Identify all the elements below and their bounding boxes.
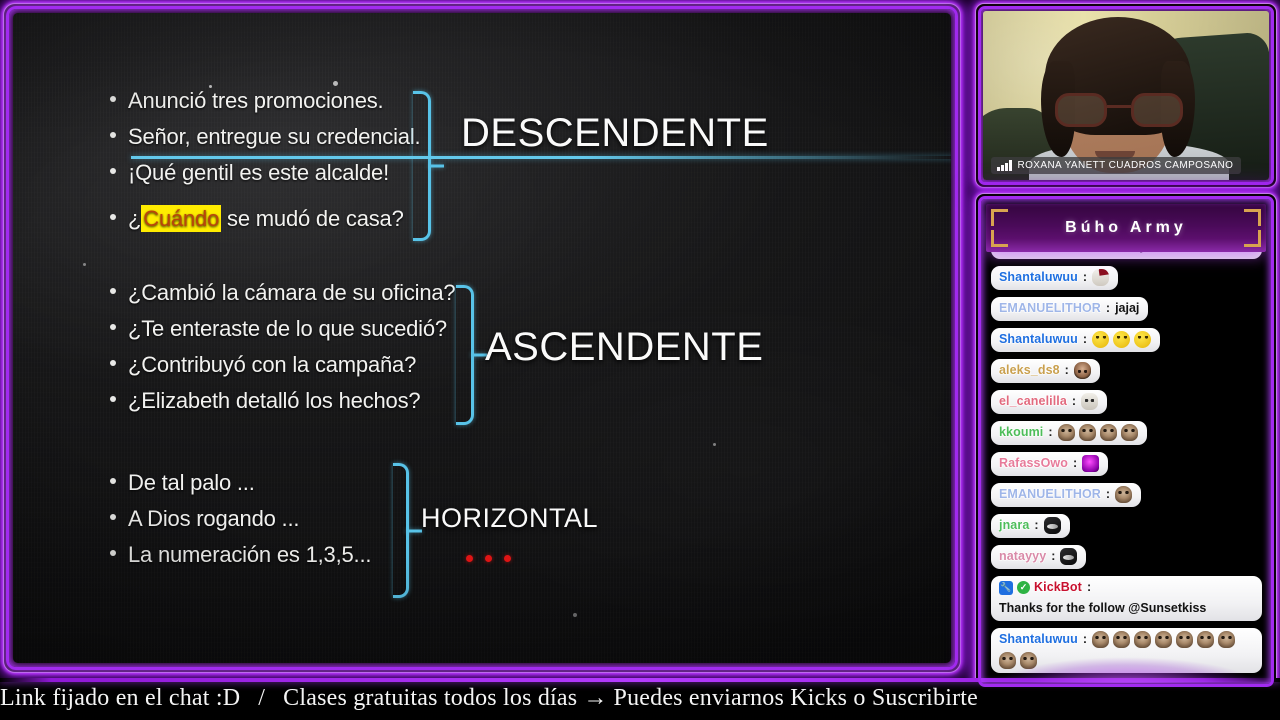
slide-group-horizontal: De tal palo ... A Dios rogando ... La nu…	[91, 465, 371, 573]
chat-message[interactable]: Shantaluwuu:	[991, 328, 1160, 352]
chat-emote-hamster-icon	[1155, 631, 1172, 648]
red-dot-icon	[485, 555, 492, 562]
chat-colon: :	[1072, 393, 1076, 410]
chat-username[interactable]: EMANUELITHOR	[999, 486, 1101, 503]
slide-group-descendente: Anunció tres promociones. Señor, entregu…	[91, 83, 420, 237]
slide-bullet: ¿Contribuyó con la campaña?	[91, 347, 455, 383]
bracket-nub	[406, 529, 422, 532]
webcam-name-text: ROXANA YANETT CUADROS CAMPOSANO	[1018, 160, 1234, 171]
bullet-text: ¿Cuándo se mudó de casa?	[128, 201, 404, 237]
bullet-text-pre: ¿	[128, 206, 141, 231]
chat-message[interactable]: jnara:	[991, 514, 1070, 538]
chat-emote-cat-icon	[1081, 393, 1098, 410]
bracket-ascendente	[456, 285, 474, 425]
bullet-text: Señor, entregue su credencial.	[128, 119, 420, 155]
heading-descendente: DESCENDENTE	[461, 111, 769, 156]
bullet-dot-icon	[110, 132, 116, 138]
chat-emote-hamster-icon	[999, 652, 1016, 669]
ticker-text: Link fijado en el chat :D/Clases gratuit…	[0, 685, 978, 712]
chat-message[interactable]: natayyy:	[991, 545, 1086, 569]
chat-emote-purple-icon	[1082, 455, 1099, 472]
chat-emote-smiley-icon	[1113, 331, 1130, 348]
slide-bullet: ¿Cambió la cámara de su oficina?	[91, 275, 455, 311]
chat-username[interactable]: el_canelilla	[999, 393, 1067, 410]
chat-colon: :	[1083, 631, 1087, 648]
chat-emote-smiley-icon	[1134, 331, 1151, 348]
chat-message[interactable]: RafassOwo:	[991, 452, 1108, 476]
corner-bracket-icon	[991, 230, 1008, 247]
bullet-text: De tal palo ...	[128, 465, 255, 501]
webcam-video: ROXANA YANETT CUADROS CAMPOSANO	[983, 11, 1269, 180]
chat-emote-hamster-icon	[1197, 631, 1214, 648]
chat-username[interactable]: jnara	[999, 517, 1029, 534]
chat-colon: :	[1106, 300, 1110, 317]
chat-emote-hamster-icon	[1134, 631, 1151, 648]
chat-emote-smiley-icon	[1092, 331, 1109, 348]
chat-message-list[interactable]: EMANUELITHOR:KickBot:Thanks for the foll…	[982, 244, 1270, 683]
stream-layout: Anunció tres promociones. Señor, entregu…	[0, 0, 1280, 720]
glasses-lens-right	[1131, 93, 1183, 127]
chat-colon: :	[1034, 517, 1038, 534]
chat-colon: :	[1106, 486, 1110, 503]
bullet-dot-icon	[110, 360, 116, 366]
chat-message[interactable]: Shantaluwuu:	[991, 628, 1262, 673]
ticker-top-glow-line	[0, 678, 1280, 682]
corner-bracket-icon	[1244, 230, 1261, 247]
glasses-shape	[1055, 93, 1183, 127]
webcam-panel: ROXANA YANETT CUADROS CAMPOSANO	[975, 3, 1277, 188]
red-dots-decoration	[466, 555, 511, 562]
slide-bullet: ¿Cuándo se mudó de casa?	[91, 201, 420, 237]
chat-colon: :	[1073, 455, 1077, 472]
bullet-dot-icon	[110, 478, 116, 484]
chat-emote-hamster-icon	[1058, 424, 1075, 441]
bullet-text: ¿Contribuyó con la campaña?	[128, 347, 416, 383]
webcam-name-label: ROXANA YANETT CUADROS CAMPOSANO	[991, 157, 1241, 174]
chat-username[interactable]: aleks_ds8	[999, 362, 1060, 379]
chalkboard-slide: Anunció tres promociones. Señor, entregu…	[13, 13, 951, 663]
chat-message[interactable]: el_canelilla:	[991, 390, 1107, 414]
chat-username[interactable]: EMANUELITHOR	[999, 300, 1101, 317]
bullet-dot-icon	[110, 550, 116, 556]
chat-username[interactable]: Shantaluwuu	[999, 631, 1078, 648]
highlighted-word: Cuándo	[141, 205, 221, 232]
bullet-dot-icon	[110, 96, 116, 102]
chat-emote-hamster-icon	[1100, 424, 1117, 441]
chat-colon: :	[1087, 579, 1091, 596]
heading-ascendente: ASCENDENTE	[485, 325, 763, 370]
chat-emote-bald-icon	[1074, 362, 1091, 379]
chat-emote-hamster-icon	[1092, 631, 1109, 648]
red-dot-icon	[466, 555, 473, 562]
chat-username[interactable]: KickBot	[1034, 579, 1082, 596]
chat-title: Búho Army	[1065, 219, 1187, 237]
slide-bullet: ¡Qué gentil es este alcalde!	[91, 155, 420, 191]
chat-emote-cathat-icon	[1092, 269, 1109, 286]
bullet-text: ¿Elizabeth detalló los hechos?	[128, 383, 420, 419]
heading-horizontal: HORIZONTAL	[421, 503, 598, 534]
chat-colon: :	[1065, 362, 1069, 379]
chat-username[interactable]: Shantaluwuu	[999, 331, 1078, 348]
chat-message[interactable]: kkoumi:	[991, 421, 1147, 445]
glasses-bridge	[1107, 105, 1131, 108]
ticker-arrow-icon: →	[577, 685, 613, 711]
slide-bullet: A Dios rogando ...	[91, 501, 371, 537]
chat-emote-hamster-icon	[1115, 486, 1132, 503]
chat-message-text: jajaj	[1115, 300, 1139, 317]
chat-emote-hamster-icon	[1121, 424, 1138, 441]
red-dot-icon	[504, 555, 511, 562]
bullet-text: ¡Qué gentil es este alcalde!	[128, 155, 389, 191]
chat-username[interactable]: Shantaluwuu	[999, 269, 1078, 286]
chat-colon: :	[1048, 424, 1052, 441]
bullet-dot-icon	[110, 214, 116, 220]
bullet-dot-icon	[110, 324, 116, 330]
chat-message[interactable]: KickBot:Thanks for the follow @Sunsetkis…	[991, 576, 1262, 621]
signal-bars-icon	[997, 160, 1012, 171]
ticker-part-1: Link fijado en el chat :D	[0, 685, 240, 711]
ticker-bar: Link fijado en el chat :D/Clases gratuit…	[0, 678, 1280, 720]
chat-colon: :	[1083, 269, 1087, 286]
slide-bullet: ¿Elizabeth detalló los hechos?	[91, 383, 455, 419]
bullet-text: La numeración es 1,3,5...	[128, 537, 371, 573]
bullet-dot-icon	[110, 514, 116, 520]
bracket-nub	[428, 165, 444, 168]
chat-username[interactable]: natayyy	[999, 548, 1046, 565]
ticker-separator: /	[240, 685, 283, 711]
verified-badge-icon	[1017, 581, 1030, 594]
bullet-text: ¿Te enteraste de lo que sucedió?	[128, 311, 447, 347]
chat-emote-dark-icon	[1060, 548, 1077, 565]
chat-emote-hamster-icon	[1079, 424, 1096, 441]
chat-message-text: Thanks for the follow @Sunsetkiss	[999, 600, 1206, 617]
bullet-text: A Dios rogando ...	[128, 501, 299, 537]
chat-emote-dark-icon	[1044, 517, 1061, 534]
glasses-lens-left	[1055, 93, 1107, 127]
corner-bracket-icon	[991, 209, 1008, 226]
chat-colon: :	[1083, 331, 1087, 348]
bracket-horizontal	[393, 463, 409, 598]
chat-inner[interactable]: EMANUELITHOR:KickBot:Thanks for the foll…	[982, 200, 1270, 683]
chat-colon: :	[1051, 548, 1055, 565]
slide-bullet: ¿Te enteraste de lo que sucedió?	[91, 311, 455, 347]
chat-header-banner: Búho Army	[986, 204, 1266, 252]
chat-emote-hamster-icon	[1218, 631, 1235, 648]
chat-panel: EMANUELITHOR:KickBot:Thanks for the foll…	[975, 193, 1277, 690]
chat-message[interactable]: Shantaluwuu:	[991, 266, 1118, 290]
bullet-dot-icon	[110, 168, 116, 174]
chat-emote-hamster-icon	[1113, 631, 1130, 648]
slide-bullet: La numeración es 1,3,5...	[91, 537, 371, 573]
bullet-text: Anunció tres promociones.	[128, 83, 383, 119]
bullet-text-post: se mudó de casa?	[221, 206, 404, 231]
chat-username[interactable]: RafassOwo	[999, 455, 1068, 472]
chat-username[interactable]: kkoumi	[999, 424, 1043, 441]
chat-message[interactable]: EMANUELITHOR:jajaj	[991, 297, 1148, 321]
bullet-text: ¿Cambió la cámara de su oficina?	[128, 275, 455, 311]
cyan-underline	[131, 156, 951, 159]
slide-bullet: Señor, entregue su credencial.	[91, 119, 420, 155]
chat-emote-hamster-icon	[1176, 631, 1193, 648]
ticker-part-2: Clases gratuitas todos los días	[283, 685, 577, 711]
bullet-dot-icon	[110, 288, 116, 294]
slide-panel: Anunció tres promociones. Señor, entregu…	[3, 3, 961, 673]
moderator-badge-icon	[999, 581, 1013, 595]
chat-message[interactable]: aleks_ds8:	[991, 359, 1100, 383]
chat-emote-hamster-icon	[1020, 652, 1037, 669]
slide-bullet: De tal palo ...	[91, 465, 371, 501]
corner-bracket-icon	[1244, 209, 1261, 226]
slide-bullet: Anunció tres promociones.	[91, 83, 420, 119]
chat-message[interactable]: EMANUELITHOR:	[991, 483, 1141, 507]
slide-group-ascendente: ¿Cambió la cámara de su oficina? ¿Te ent…	[91, 275, 455, 419]
bracket-descendente	[413, 91, 431, 241]
ticker-part-3: Puedes enviarnos Kicks o Suscribirte	[614, 685, 978, 711]
bullet-dot-icon	[110, 396, 116, 402]
